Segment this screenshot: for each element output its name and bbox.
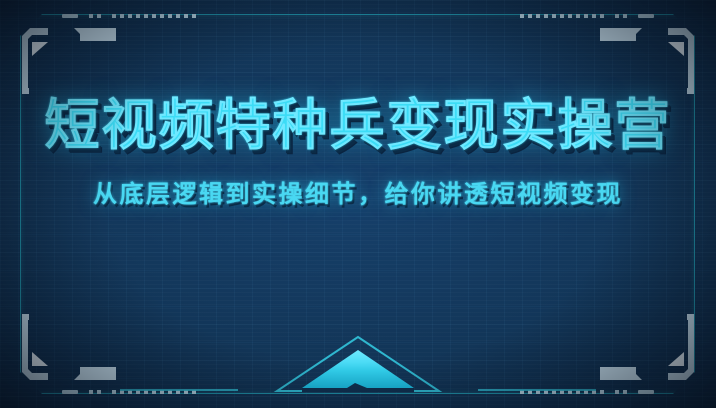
tick-dot-icon [168,390,172,394]
tick-dash-icon [62,390,78,394]
headline-block: 短视频特种兵变现实操营 从底层逻辑到实操细节，给你讲透短视频变现 [0,96,716,209]
tick-dot-icon [584,14,588,18]
tick-dot-icon [152,390,156,394]
tick-dash-icon [638,390,654,394]
tick-dot-icon [192,390,196,394]
tick-dot-icon [592,390,596,394]
tick-dot-icon [536,390,540,394]
tick-dot-icon [560,390,564,394]
tick-dot-icon [136,390,140,394]
tick-dot-icon [136,14,140,18]
tick-dash-icon [62,14,78,18]
tick-dot-icon [128,14,132,18]
tick-rail-bottom-left [62,390,196,394]
tick-dot-icon [520,14,524,18]
tick-dot-icon [168,14,172,18]
tick-dot-icon [623,14,627,18]
corner-bracket-icon-bottom-left [8,308,156,398]
emblem-rail-left [120,389,238,391]
tick-dot-icon [112,14,116,18]
tick-dot-icon [144,390,148,394]
corner-bracket-icon-top-left [8,10,156,100]
tick-dot-icon [144,14,148,18]
corner-bracket-icon-top-right [560,10,708,100]
tick-dot-icon [544,14,548,18]
tick-dot-icon [552,390,556,394]
tick-dot-icon [536,14,540,18]
tick-dot-icon [89,390,93,394]
corner-bracket-icon-bottom-right [560,308,708,398]
tick-rail-bottom-right [520,390,654,394]
tick-dot-icon [184,390,188,394]
tick-dot-icon [192,14,196,18]
tick-dot-icon [89,14,93,18]
tick-dot-icon [528,390,532,394]
tick-dot-icon [176,14,180,18]
tick-dot-icon [520,390,524,394]
tick-dot-icon [552,14,556,18]
tick-dot-icon [97,390,101,394]
page-title: 短视频特种兵变现实操营 [0,96,716,154]
tick-dot-icon [576,390,580,394]
tick-dot-icon [176,390,180,394]
tick-rail-top-left [62,14,196,18]
tick-rail-top-right [520,14,654,18]
tick-dot-icon [560,14,564,18]
tick-dot-icon [615,390,619,394]
tick-dot-icon [128,390,132,394]
page-subtitle: 从底层逻辑到实操细节，给你讲透短视频变现 [0,174,716,209]
tick-dot-icon [600,14,604,18]
tick-dot-icon [97,14,101,18]
tick-dot-icon [615,14,619,18]
tick-dot-icon [120,390,124,394]
tick-dot-icon [600,390,604,394]
poster-canvas: 短视频特种兵变现实操营 从底层逻辑到实操细节，给你讲透短视频变现 [0,0,716,408]
tick-dot-icon [568,390,572,394]
tick-dot-icon [623,390,627,394]
tick-dot-icon [120,14,124,18]
tick-dot-icon [592,14,596,18]
triangle-emblem-icon [271,334,445,394]
tick-dot-icon [568,14,572,18]
tick-dot-icon [152,14,156,18]
tick-dot-icon [112,390,116,394]
tick-dot-icon [528,14,532,18]
tick-dot-icon [576,14,580,18]
tick-dash-icon [638,14,654,18]
tick-dot-icon [544,390,548,394]
emblem-rail-right [478,389,596,391]
tick-dot-icon [584,390,588,394]
tick-dot-icon [160,390,164,394]
tick-dot-icon [184,14,188,18]
tick-dot-icon [160,14,164,18]
